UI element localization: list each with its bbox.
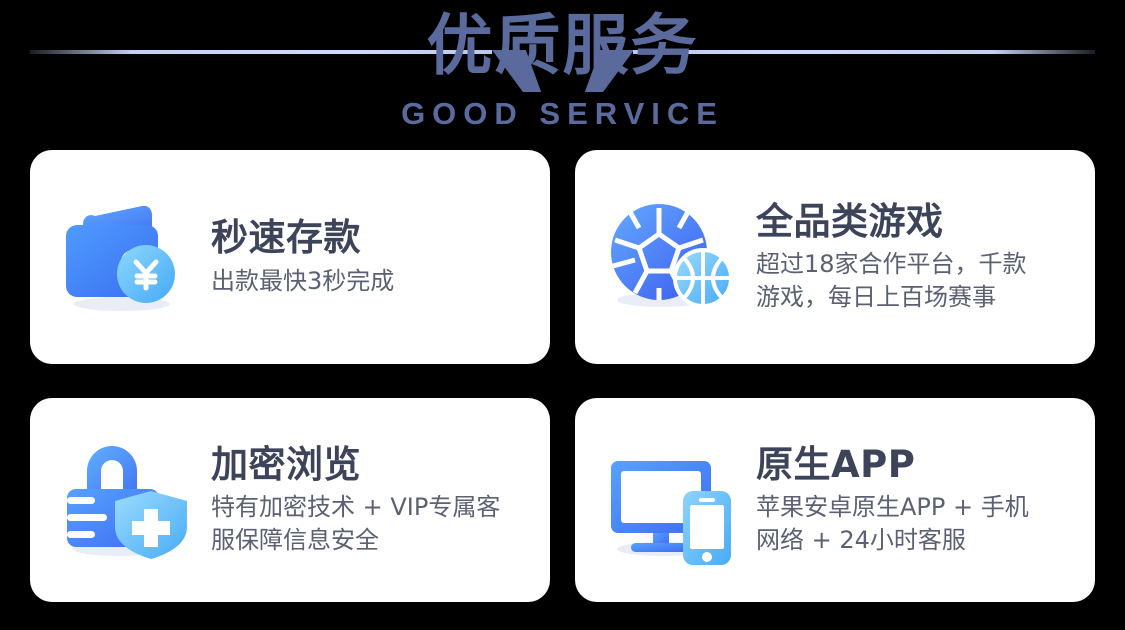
soccer-basketball-icon (605, 192, 740, 322)
card-subtitle: 苹果安卓原生APP + 手机 网络 + 24小时客服 (756, 491, 1077, 557)
feature-card-text: 全品类游戏 超过18家合作平台，千款 游戏，每日上百场赛事 (756, 200, 1077, 315)
card-subtitle-line: 超过18家合作平台，千款 (756, 248, 1077, 281)
card-subtitle-line: 网络 + 24小时客服 (756, 524, 1077, 557)
feature-card-text: 加密浏览 特有加密技术 + VIP专属客 服保障信息安全 (211, 443, 532, 558)
card-title: 原生APP (756, 443, 1077, 487)
page-title: 优质服务 (0, 8, 1125, 84)
card-subtitle: 超过18家合作平台，千款 游戏，每日上百场赛事 (756, 248, 1077, 314)
feature-card-deposit[interactable]: 秒速存款 出款最快3秒完成 (30, 150, 550, 364)
card-title: 全品类游戏 (756, 200, 1077, 244)
monitor-phone-icon (605, 435, 740, 565)
card-subtitle: 特有加密技术 + VIP专属客 服保障信息安全 (211, 491, 532, 557)
card-subtitle-line: 游戏，每日上百场赛事 (756, 281, 1077, 314)
feature-card-encryption[interactable]: 加密浏览 特有加密技术 + VIP专属客 服保障信息安全 (30, 398, 550, 602)
feature-card-text: 原生APP 苹果安卓原生APP + 手机 网络 + 24小时客服 (756, 443, 1077, 558)
feature-card-games[interactable]: 全品类游戏 超过18家合作平台，千款 游戏，每日上百场赛事 (575, 150, 1095, 364)
page-header: 优质服务 GOOD SERVICE (0, 0, 1125, 146)
card-subtitle-line: 出款最快3秒完成 (211, 265, 532, 298)
card-subtitle-line: 服保障信息安全 (211, 524, 532, 557)
lock-shield-icon (60, 435, 195, 565)
page-subtitle: GOOD SERVICE (0, 96, 1125, 132)
card-subtitle-line: 苹果安卓原生APP + 手机 (756, 491, 1077, 524)
card-title: 秒速存款 (211, 216, 532, 260)
feature-card-grid: 秒速存款 出款最快3秒完成 (30, 150, 1095, 602)
card-subtitle: 出款最快3秒完成 (211, 265, 532, 298)
feature-card-text: 秒速存款 出款最快3秒完成 (211, 216, 532, 298)
card-subtitle-line: 特有加密技术 + VIP专属客 (211, 491, 532, 524)
wallet-yen-icon (60, 192, 195, 322)
feature-card-native-app[interactable]: 原生APP 苹果安卓原生APP + 手机 网络 + 24小时客服 (575, 398, 1095, 602)
card-title: 加密浏览 (211, 443, 532, 487)
